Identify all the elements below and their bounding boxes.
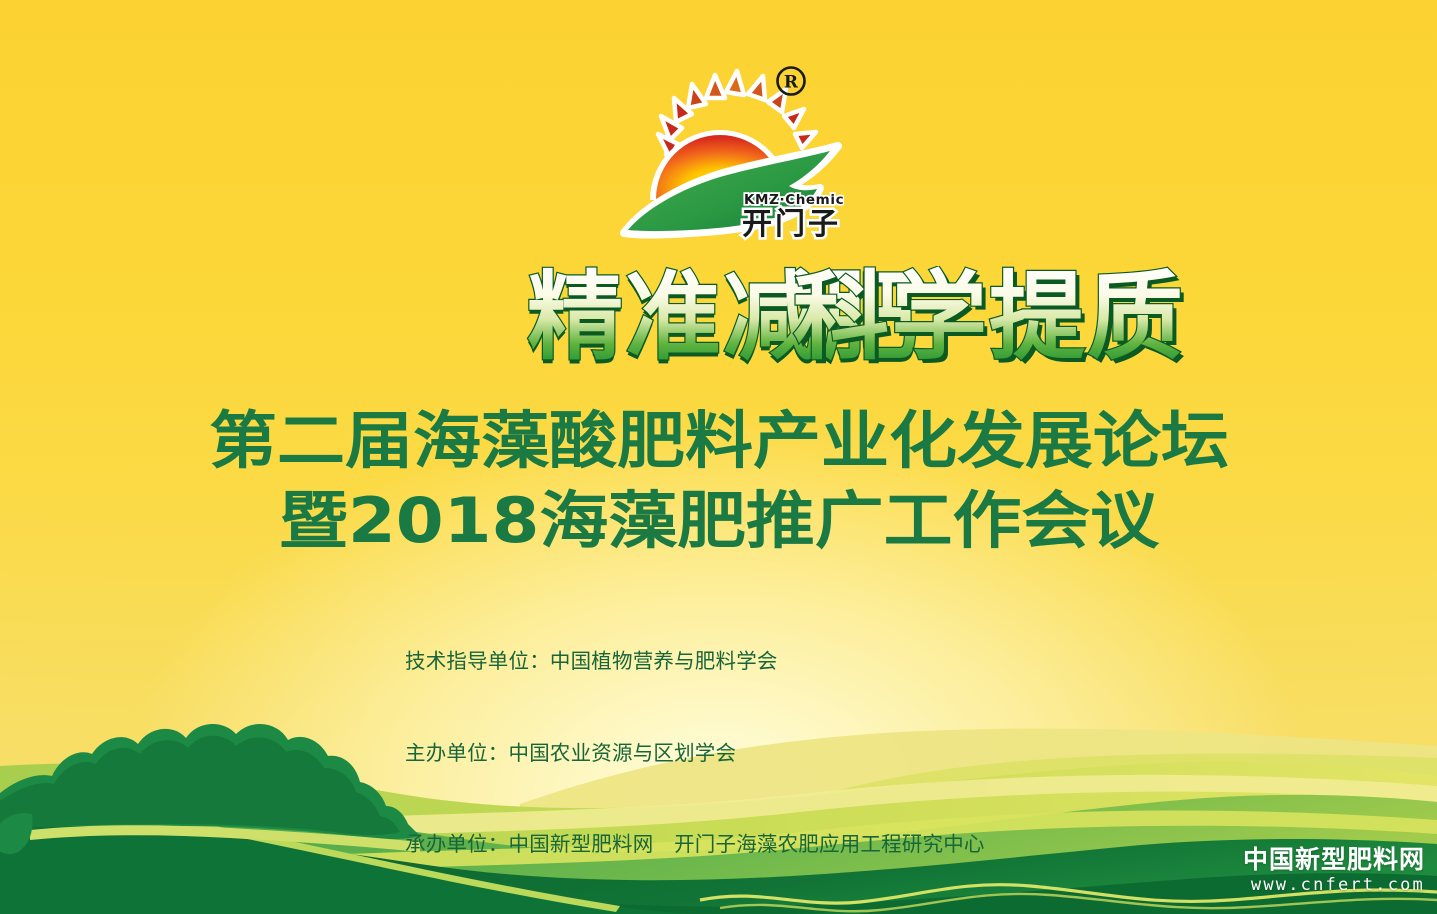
headline-shadow-2: 科学提质 (797, 266, 1189, 377)
headline-line-2: 科学提质 (793, 266, 1185, 373)
poster-subtitle: 第二届海藻酸肥料产业化发展论坛 暨2018海藻肥推广工作会议 (0, 400, 1437, 568)
registered-trademark-icon: R (778, 68, 805, 95)
logo-brand-en: KMZ·Chemical (744, 192, 844, 208)
site-watermark: 中国新型肥料网 www.cnfert.com (1243, 845, 1425, 896)
logo-brand-text: KMZ·Chemical 开门子 (742, 192, 844, 242)
subtitle-line-2: 暨2018海藻肥推广工作会议 (279, 484, 1160, 557)
headline-line-1: 精准减肥 (527, 266, 919, 373)
poster-headline: 精准减肥 精准减肥 科学提质 科学提质 (0, 266, 1437, 378)
logo-brand-cn: 开门子 (742, 207, 841, 242)
subtitle-line-1: 第二届海藻酸肥料产业化发展论坛 (209, 404, 1229, 477)
kaimenzi-logo: R KMZ·Chemical 开门子 (614, 58, 844, 243)
org-line-technical-guidance: 技术指导单位：中国植物营养与肥料学会 (405, 646, 1265, 677)
watermark-site-name: 中国新型肥料网 (1243, 845, 1425, 874)
svg-text:R: R (784, 73, 799, 93)
organization-list: 技术指导单位：中国植物营养与肥料学会 主办单位：中国农业资源与区划学会 承办单位… (405, 585, 1265, 914)
org-line-host: 主办单位：中国农业资源与区划学会 (405, 738, 1265, 769)
conference-poster: R KMZ·Chemical 开门子 精准减肥 精准减肥 (0, 0, 1437, 914)
headline-shadow: 精准减肥 (527, 266, 919, 377)
hill-tree-cluster (0, 724, 420, 854)
org-line-organizer: 承办单位：中国新型肥料网 开门子海藻农肥应用工程研究中心 (405, 829, 1265, 860)
watermark-url: www.cnfert.com (1243, 874, 1425, 896)
